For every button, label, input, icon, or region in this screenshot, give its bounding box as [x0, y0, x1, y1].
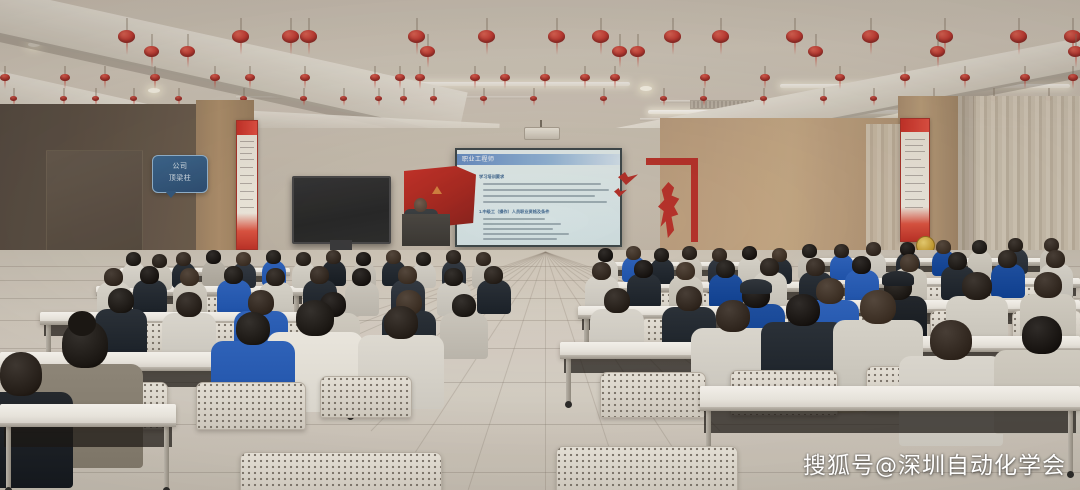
lantern [0, 66, 10, 95]
lantern [340, 88, 347, 115]
person-head [206, 250, 221, 264]
desk-leg [164, 426, 169, 490]
right-wall-poster [900, 118, 930, 242]
flag-star [432, 186, 442, 194]
lantern [664, 18, 681, 53]
person-head [446, 250, 461, 264]
lantern [862, 18, 879, 53]
desk-leg [1068, 410, 1073, 474]
person-head [356, 252, 371, 266]
person-head [930, 320, 972, 360]
lantern [300, 18, 317, 53]
person-torso [345, 282, 379, 316]
slide-text-line [483, 195, 595, 197]
lantern [660, 88, 667, 115]
presentation-slide: 职业工程师 学习培训要求 1.中级工（操作）人员职业资格及条件 [457, 150, 620, 245]
person-head [176, 292, 202, 317]
wall-display-screen [292, 176, 391, 244]
slide-text-line [483, 189, 609, 191]
person-head [816, 278, 844, 304]
chair [240, 452, 442, 490]
desk-leg [566, 358, 571, 404]
photo-scene: 职业工程师 学习培训要求 1.中级工（操作）人员职业资格及条件 [0, 0, 1080, 490]
person-head [452, 294, 476, 317]
slide-text-line [483, 233, 569, 235]
person-head [296, 300, 334, 336]
person-head [852, 256, 871, 274]
slide-text-line [483, 228, 553, 230]
lantern [232, 18, 249, 53]
person-head [948, 252, 967, 270]
watermark-platform: 搜狐号 [803, 453, 875, 479]
cap [882, 271, 914, 286]
person-head [326, 250, 341, 264]
person-head [866, 242, 881, 256]
person-head [676, 286, 702, 311]
projection-screen: 职业工程师 学习培训要求 1.中级工（操作）人员职业资格及条件 [455, 148, 622, 247]
person-head [682, 246, 697, 260]
person-torso [477, 280, 511, 314]
person-head [1046, 250, 1065, 268]
lantern [1068, 34, 1080, 67]
poster-header [901, 119, 929, 132]
desk-edge [700, 407, 1080, 411]
chair [320, 376, 412, 418]
person-head [760, 258, 779, 276]
watermark-account: 深圳自动化学会 [898, 453, 1066, 479]
person-head [398, 266, 417, 284]
poster-header [237, 121, 257, 135]
ceiling-projector [524, 127, 560, 140]
chair [196, 382, 306, 430]
watermark: 搜狐号@深圳自动化学会 [803, 446, 1066, 480]
speaker-podium [402, 214, 450, 246]
person-head [236, 252, 251, 266]
lantern [835, 66, 845, 95]
slide-text-line [483, 238, 557, 240]
lantern [630, 34, 645, 67]
lantern [900, 66, 910, 95]
plaque-line-1: 公司 [153, 162, 207, 171]
lantern [580, 66, 590, 95]
person-head [972, 240, 987, 254]
slide-text-line [483, 223, 561, 225]
lantern [180, 34, 195, 67]
desk-shadow [4, 427, 172, 447]
watermark-separator: @ [875, 454, 898, 479]
person-head [962, 272, 992, 300]
person-head [900, 254, 919, 272]
person-head [296, 252, 311, 266]
person-head [104, 268, 123, 286]
person-head [180, 268, 199, 286]
lantern [375, 88, 382, 115]
lantern [530, 88, 537, 115]
person-head [224, 266, 243, 284]
lantern [400, 88, 407, 115]
lantern [610, 66, 620, 95]
chair [556, 446, 738, 490]
slide-text-line [483, 183, 601, 185]
papercut-bar [691, 158, 698, 242]
slide-title: 职业工程师 [462, 155, 495, 165]
lantern [960, 66, 970, 95]
lantern [592, 18, 609, 53]
slide-section-2: 1.中级工（操作）人员职业资格及条件 [479, 209, 550, 215]
person-head [484, 266, 503, 284]
person-head [386, 250, 401, 264]
person-head [834, 244, 849, 258]
slide-text-line [483, 201, 607, 203]
papercut-figure [658, 182, 684, 238]
lantern [1010, 18, 1027, 53]
desk-edge [0, 423, 176, 427]
person-head [476, 252, 491, 266]
person-head [654, 248, 669, 262]
person-head [266, 268, 285, 286]
person-head [1034, 272, 1062, 298]
lantern [540, 66, 550, 95]
person-head [676, 262, 695, 280]
lantern [144, 34, 159, 67]
lantern [870, 88, 877, 115]
lantern [820, 88, 827, 115]
lantern [1068, 66, 1078, 95]
lantern [420, 34, 435, 67]
person-head [236, 312, 270, 345]
lantern [700, 88, 707, 115]
person-head [352, 268, 371, 286]
person-head [0, 352, 42, 396]
plaque-line-2: 顶梁柱 [153, 174, 207, 183]
person-head [108, 288, 134, 313]
lantern [760, 88, 767, 115]
person-head [604, 288, 630, 313]
person-head [806, 258, 825, 276]
chair [600, 372, 706, 418]
person-head [716, 260, 735, 278]
lantern [786, 18, 803, 53]
left-wall-poster [236, 120, 258, 250]
wall-panel [46, 150, 143, 257]
person-head [592, 262, 611, 280]
lantern [282, 18, 299, 53]
person-head [634, 260, 653, 278]
person-head [802, 244, 817, 258]
person-head [140, 266, 159, 284]
desk-shadow [704, 411, 1076, 433]
slide-text-line [483, 218, 545, 220]
person-head [716, 300, 750, 332]
lantern [500, 66, 510, 95]
person-torso [991, 264, 1025, 298]
lantern [415, 66, 425, 95]
person-head [1022, 316, 1062, 354]
person-head [152, 254, 167, 268]
person-torso [440, 313, 488, 359]
lantern [480, 88, 487, 115]
person-head [786, 294, 820, 326]
person-head [598, 248, 613, 262]
presenter-head [414, 198, 427, 212]
person-head [860, 290, 896, 324]
person-head [998, 250, 1017, 268]
person-head [310, 266, 329, 284]
lantern [470, 66, 480, 95]
lantern [808, 34, 823, 67]
person-head [416, 252, 431, 266]
person-head [266, 250, 281, 264]
person-head [626, 246, 641, 260]
person-head [742, 246, 757, 260]
lantern [930, 34, 945, 67]
lantern [1020, 66, 1030, 95]
downlight [640, 86, 652, 91]
lantern [600, 88, 607, 115]
slide-section-1: 学习培训要求 [479, 174, 504, 180]
person-head [126, 252, 141, 266]
lantern [478, 18, 495, 53]
desk-caster [1067, 471, 1074, 478]
person-head [176, 252, 191, 266]
lantern [100, 66, 110, 95]
desk-caster [565, 401, 572, 408]
lantern [300, 88, 307, 115]
papercut-wall-art [640, 158, 710, 246]
lantern [118, 18, 135, 53]
lantern [612, 34, 627, 67]
person-head [444, 268, 463, 286]
tile-line [545, 252, 546, 490]
lantern [712, 18, 729, 53]
person-head [384, 306, 418, 339]
person-torso [217, 280, 251, 314]
lantern [210, 66, 220, 95]
cap [740, 279, 772, 294]
company-plaque: 公司 顶梁柱 [152, 155, 208, 193]
lantern [548, 18, 565, 53]
lantern [150, 66, 160, 95]
lantern [430, 88, 437, 115]
person-torso [627, 274, 661, 308]
desk-leg [6, 426, 11, 490]
person-head [936, 240, 951, 254]
